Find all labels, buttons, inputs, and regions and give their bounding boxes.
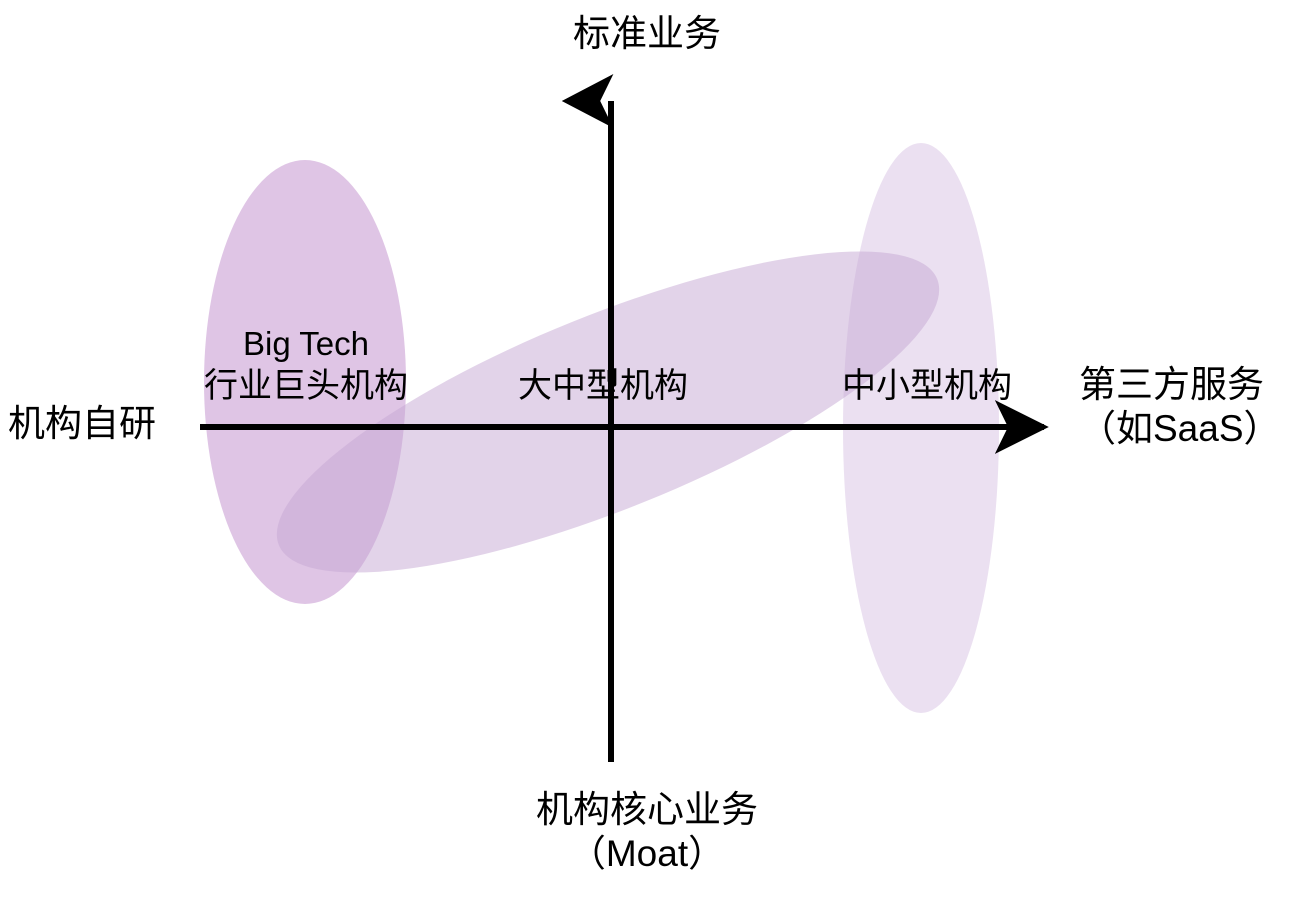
cluster-label-large-medium: 大中型机构: [503, 365, 703, 408]
axis-label-top: 标准业务: [573, 12, 721, 56]
axis-label-bottom-line1: 机构核心业务: [536, 789, 758, 830]
cluster-label-big-tech-line2: 行业巨头机构: [196, 365, 416, 408]
axis-label-bottom: 机构核心业务 （Moat）: [536, 788, 758, 875]
axis-label-top-text: 标准业务: [573, 13, 721, 54]
axis-label-right-line1: 第三方服务: [1079, 364, 1264, 405]
axis-label-right: 第三方服务 （如SaaS）: [1079, 363, 1281, 450]
axis-label-left-text: 机构自研: [8, 403, 156, 444]
axis-label-bottom-line2: （Moat）: [536, 832, 758, 876]
quadrant-diagram: [0, 0, 1294, 911]
cluster-label-big-tech-line1: Big Tech: [196, 323, 416, 365]
cluster-label-large-medium-text: 大中型机构: [518, 367, 688, 405]
axis-label-right-line2: （如SaaS）: [1079, 407, 1281, 451]
axis-label-left: 机构自研: [8, 402, 156, 446]
diagram-canvas: 标准业务 机构自研 第三方服务 （如SaaS） 机构核心业务 （Moat） Bi…: [0, 0, 1294, 911]
cluster-label-small-medium-text: 中小型机构: [842, 367, 1012, 405]
cluster-label-big-tech: Big Tech 行业巨头机构: [196, 323, 416, 407]
cluster-label-small-medium: 中小型机构: [827, 365, 1027, 408]
